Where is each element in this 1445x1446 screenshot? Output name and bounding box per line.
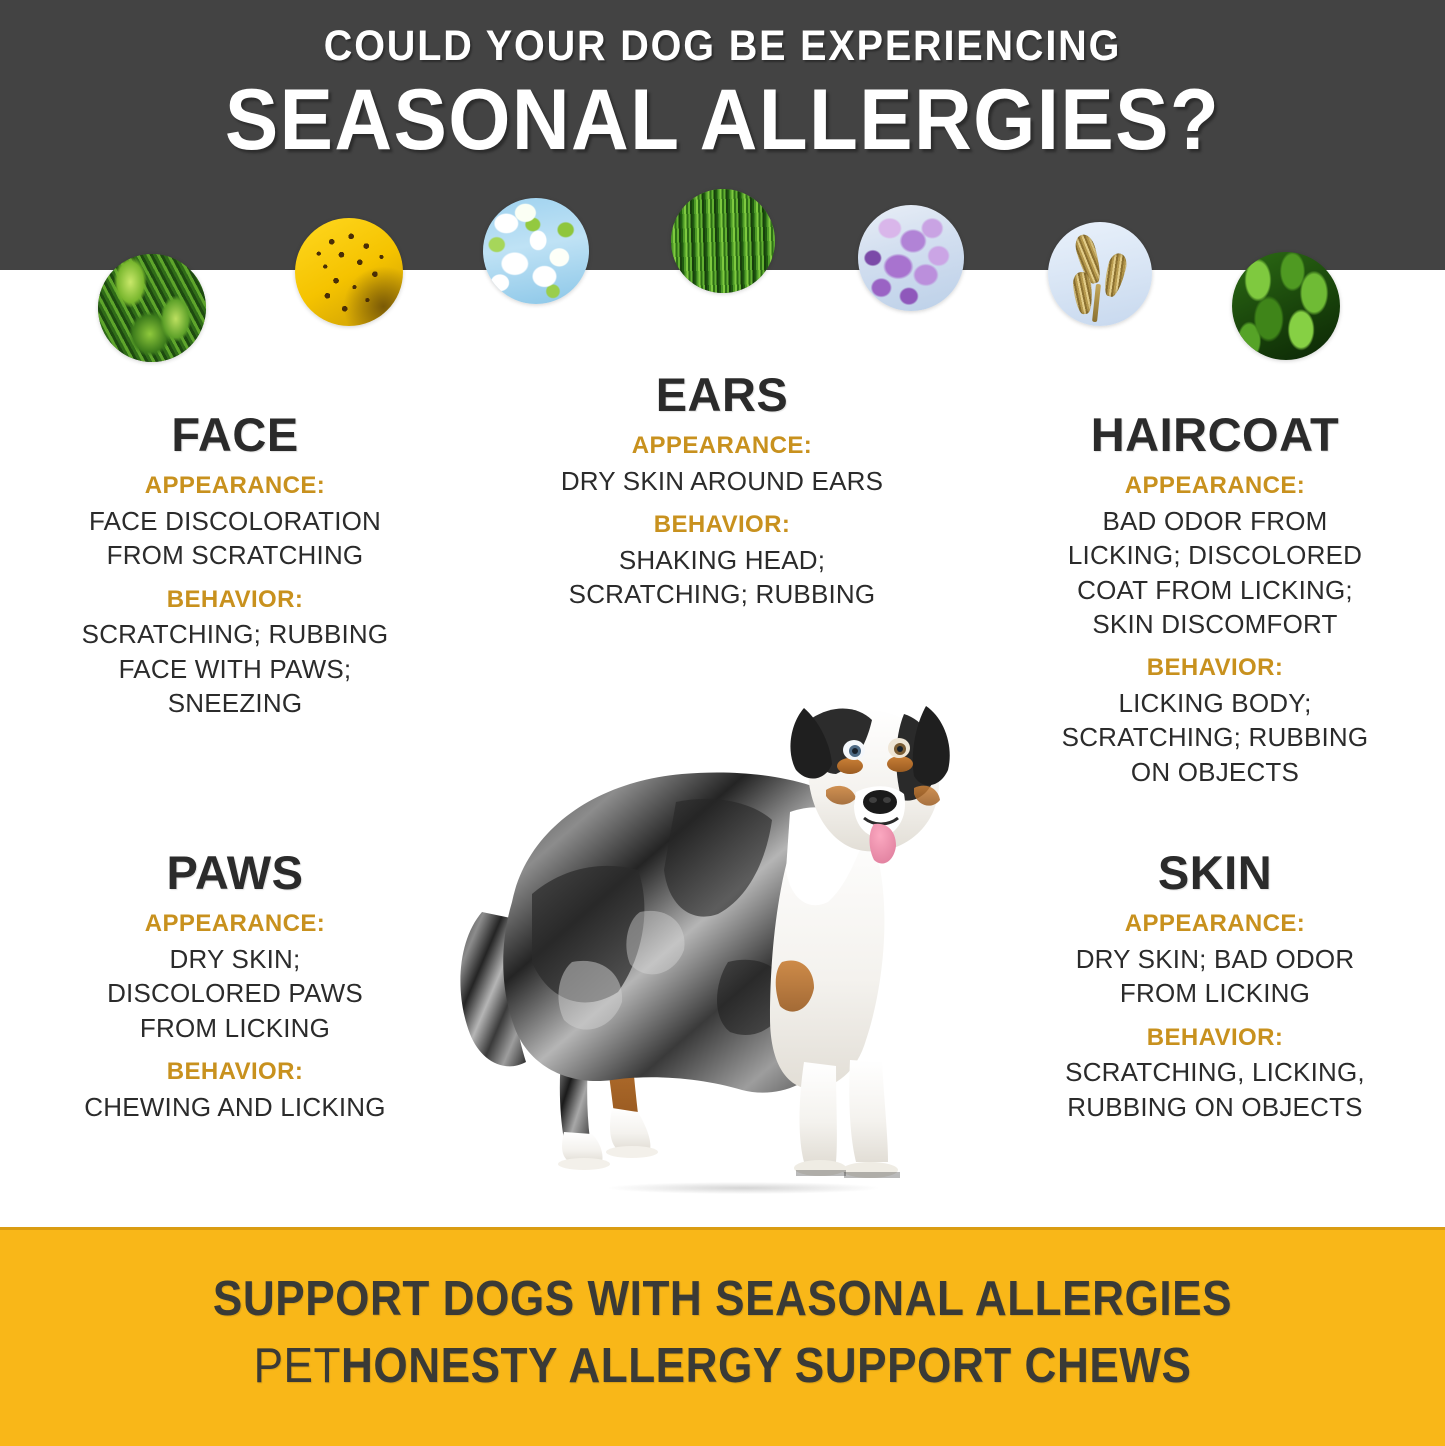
ears-behavior-text: SHAKING HEAD;SCRATCHING; RUBBING: [507, 543, 937, 612]
haircoat-title: HAIRCOAT: [1000, 410, 1430, 459]
ears-appearance-label: APPEARANCE:: [507, 431, 937, 462]
face-behavior-label: BEHAVIOR:: [20, 585, 450, 616]
purple-lilac-icon: [858, 205, 964, 311]
ears-behavior-label: BEHAVIOR:: [507, 510, 937, 541]
catkin-pollen-icon: [1048, 222, 1152, 326]
footer-cta-banner: SUPPORT DOGS WITH SEASONAL ALLERGIES PET…: [0, 1227, 1445, 1446]
pollen-flower-circle: [295, 218, 403, 326]
australian-shepherd-dog-photo: [452, 662, 1012, 1202]
white-blossom-icon: [483, 198, 589, 304]
paws-title: PAWS: [20, 848, 450, 897]
green-leaves-icon: [1232, 252, 1340, 360]
symptom-block-paws: PAWS APPEARANCE: DRY SKIN;DISCOLORED PAW…: [20, 848, 450, 1124]
brand-pet: PET: [254, 1339, 341, 1393]
dog-ground-shadow: [609, 1182, 878, 1194]
footer-headline: SUPPORT DOGS WITH SEASONAL ALLERGIES: [72, 1269, 1373, 1331]
green-leaves-circle: [1232, 252, 1340, 360]
lilac-circle: [858, 205, 964, 311]
skin-appearance-text: DRY SKIN; BAD ODORFROM LICKING: [1000, 942, 1430, 1011]
haircoat-behavior-text: LICKING BODY;SCRATCHING; RUBBINGON OBJEC…: [1000, 686, 1430, 789]
paws-appearance-text: DRY SKIN;DISCOLORED PAWSFROM LICKING: [20, 942, 450, 1045]
paws-behavior-text: CHEWING AND LICKING: [20, 1090, 450, 1124]
skin-behavior-text: SCRATCHING, LICKING,RUBBING ON OBJECTS: [1000, 1055, 1430, 1124]
haircoat-appearance-text: BAD ODOR FROMLICKING; DISCOLOREDCOAT FRO…: [1000, 504, 1430, 641]
footer-divider: [0, 1227, 1445, 1230]
skin-appearance-label: APPEARANCE:: [1000, 909, 1430, 940]
tree-blossom-circle: [483, 198, 589, 304]
ragweed-circle: [98, 254, 206, 362]
face-behavior-text: SCRATCHING; RUBBINGFACE WITH PAWS;SNEEZI…: [20, 617, 450, 720]
brand-honesty: HONESTY: [341, 1339, 557, 1393]
paws-appearance-label: APPEARANCE:: [20, 909, 450, 940]
catkin-circle: [1048, 222, 1152, 326]
face-title: FACE: [20, 410, 450, 459]
grass-circle: [671, 189, 775, 293]
haircoat-appearance-label: APPEARANCE:: [1000, 471, 1430, 502]
face-appearance-label: APPEARANCE:: [20, 471, 450, 502]
skin-title: SKIN: [1000, 848, 1430, 897]
symptom-block-skin: SKIN APPEARANCE: DRY SKIN; BAD ODORFROM …: [1000, 848, 1430, 1124]
face-appearance-text: FACE DISCOLORATIONFROM SCRATCHING: [20, 504, 450, 573]
ears-appearance-text: DRY SKIN AROUND EARS: [507, 464, 937, 498]
footer-text-group: SUPPORT DOGS WITH SEASONAL ALLERGIES PET…: [0, 1269, 1445, 1397]
ears-title: EARS: [507, 370, 937, 419]
grass-blades-icon: [671, 189, 775, 293]
haircoat-behavior-label: BEHAVIOR:: [1000, 653, 1430, 684]
footer-product-line: PETHONESTY ALLERGY SUPPORT CHEWS: [72, 1336, 1373, 1398]
symptom-block-haircoat: HAIRCOAT APPEARANCE: BAD ODOR FROMLICKIN…: [1000, 410, 1430, 789]
symptom-block-face: FACE APPEARANCE: FACE DISCOLORATIONFROM …: [20, 410, 450, 720]
footer-product-name: ALLERGY SUPPORT CHEWS: [557, 1339, 1191, 1393]
ragweed-plant-icon: [98, 254, 206, 362]
paws-behavior-label: BEHAVIOR:: [20, 1057, 450, 1088]
yellow-flower-pollen-icon: [295, 218, 403, 326]
allergen-circle-row: [0, 0, 1445, 360]
dog-illustration: [452, 662, 1012, 1202]
skin-behavior-label: BEHAVIOR:: [1000, 1023, 1430, 1054]
symptom-block-ears: EARS APPEARANCE: DRY SKIN AROUND EARS BE…: [507, 370, 937, 612]
